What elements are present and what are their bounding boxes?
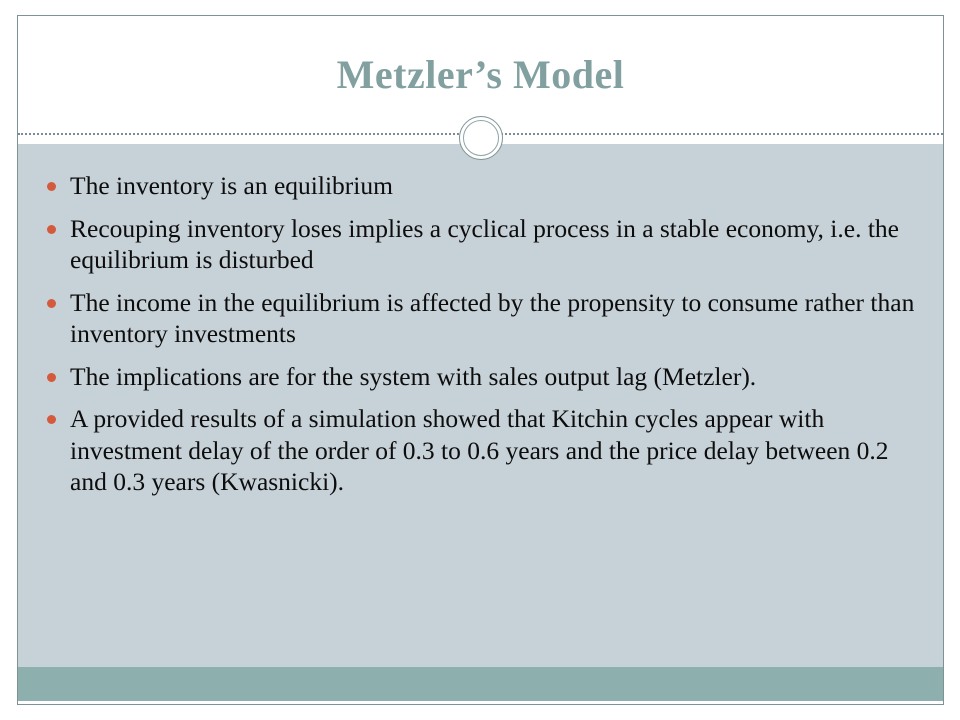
bullet-marker-icon <box>47 373 56 382</box>
list-item-text: The implications are for the system with… <box>70 362 756 391</box>
presentation-slide: Metzler’s Model The inventory is an equi… <box>17 15 944 705</box>
list-item: Recouping inventory loses implies a cycl… <box>36 213 917 276</box>
slide-body-area: The inventory is an equilibrium Recoupin… <box>18 144 943 667</box>
circle-ornament-inner-icon <box>463 120 499 156</box>
list-item: The income in the equilibrium is affecte… <box>36 287 917 350</box>
list-item-text: Recouping inventory loses implies a cycl… <box>70 214 899 275</box>
footer-bottom-rule <box>18 701 943 704</box>
list-item-text: A provided results of a simulation showe… <box>70 404 889 496</box>
list-item: The inventory is an equilibrium <box>36 170 917 202</box>
list-item-text: The income in the equilibrium is affecte… <box>70 288 914 349</box>
page-title: Metzler’s Model <box>18 51 943 99</box>
bullet-list: The inventory is an equilibrium Recoupin… <box>36 170 917 509</box>
list-item: A provided results of a simulation showe… <box>36 403 917 498</box>
bullet-marker-icon <box>47 415 56 424</box>
footer-accent-bar <box>18 667 943 701</box>
list-item-text: The inventory is an equilibrium <box>70 171 393 200</box>
list-item: The implications are for the system with… <box>36 361 917 393</box>
bullet-marker-icon <box>47 299 56 308</box>
bullet-marker-icon <box>47 182 56 191</box>
bullet-marker-icon <box>47 225 56 234</box>
